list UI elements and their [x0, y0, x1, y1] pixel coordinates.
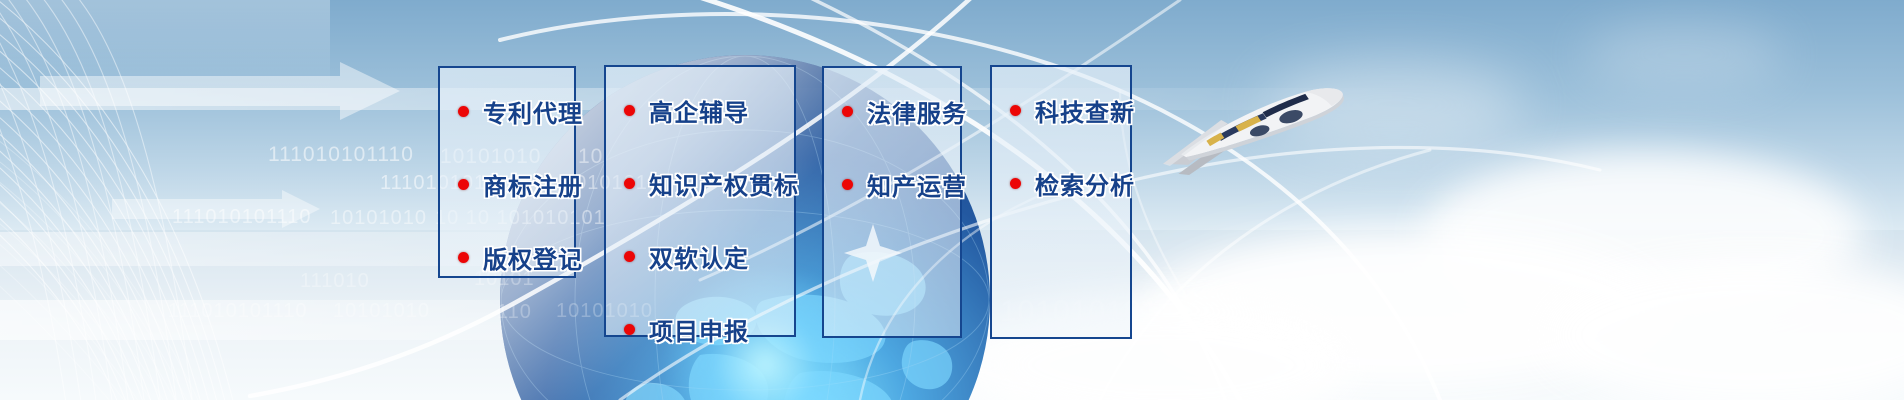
- binary-decor-text: 10101010: [333, 300, 430, 323]
- service-label: 检索分析: [1035, 166, 1135, 201]
- bullet-dot-icon: [458, 106, 469, 117]
- bullet-dot-icon: [842, 106, 853, 117]
- binary-decor-text: 10: [578, 145, 603, 169]
- promo-banner: 1110101011101010101010111010101110101010…: [0, 0, 1904, 400]
- service-label: 项目申报: [649, 312, 749, 347]
- service-label: 法律服务: [867, 94, 967, 129]
- list-item[interactable]: 商标注册: [458, 167, 574, 202]
- list-item[interactable]: 双软认定: [624, 239, 794, 274]
- list-item[interactable]: 法律服务: [842, 94, 960, 129]
- binary-decor-text: 111010101110: [172, 206, 312, 229]
- list-item[interactable]: 高企辅导: [624, 93, 794, 128]
- list-item[interactable]: 科技查新: [1010, 93, 1130, 128]
- bullet-dot-icon: [1010, 178, 1021, 189]
- list-item[interactable]: 版权登记: [458, 240, 574, 275]
- service-list: 法律服务 知产运营: [824, 68, 960, 202]
- service-label: 科技查新: [1035, 93, 1135, 128]
- service-list: 高企辅导 知识产权贯标 双软认定 项目申报: [606, 67, 794, 347]
- list-item[interactable]: 知识产权贯标: [624, 166, 794, 201]
- service-list: 专利代理 商标注册 版权登记: [440, 68, 574, 275]
- service-label: 专利代理: [483, 94, 583, 129]
- bullet-dot-icon: [458, 252, 469, 263]
- bullet-dot-icon: [624, 105, 635, 116]
- bullet-dot-icon: [624, 178, 635, 189]
- cloud-shape: [1584, 20, 1784, 90]
- service-label: 双软认定: [649, 239, 749, 274]
- arrow-large-icon: [40, 62, 400, 120]
- service-box-research[interactable]: 科技查新 检索分析: [990, 65, 1132, 339]
- service-list: 科技查新 检索分析: [992, 67, 1130, 201]
- service-label: 版权登记: [483, 240, 583, 275]
- binary-decor-text: 111010: [300, 270, 370, 293]
- binary-decor-text: 110: [497, 301, 532, 324]
- service-label: 高企辅导: [649, 93, 749, 128]
- bullet-dot-icon: [842, 179, 853, 190]
- service-label: 商标注册: [483, 167, 583, 202]
- list-item[interactable]: 检索分析: [1010, 166, 1130, 201]
- binary-decor-text: 111010101110: [268, 143, 414, 167]
- list-item[interactable]: 知产运营: [842, 167, 960, 202]
- bullet-dot-icon: [624, 251, 635, 262]
- service-label: 知识产权贯标: [649, 166, 799, 201]
- bullet-dot-icon: [458, 179, 469, 190]
- binary-decor-text: 111010101110: [168, 300, 308, 323]
- service-box-ip-basics[interactable]: 专利代理 商标注册 版权登记: [438, 66, 576, 278]
- airplane-icon: [1118, 80, 1358, 190]
- list-item[interactable]: 专利代理: [458, 94, 574, 129]
- service-box-certification[interactable]: 高企辅导 知识产权贯标 双软认定 项目申报: [604, 65, 796, 337]
- service-box-legal[interactable]: 法律服务 知产运营: [822, 66, 962, 338]
- list-item[interactable]: 项目申报: [624, 312, 794, 347]
- bullet-dot-icon: [1010, 105, 1021, 116]
- binary-decor-text: 10101010: [330, 207, 427, 230]
- service-label: 知产运营: [867, 167, 967, 202]
- bullet-dot-icon: [624, 324, 635, 335]
